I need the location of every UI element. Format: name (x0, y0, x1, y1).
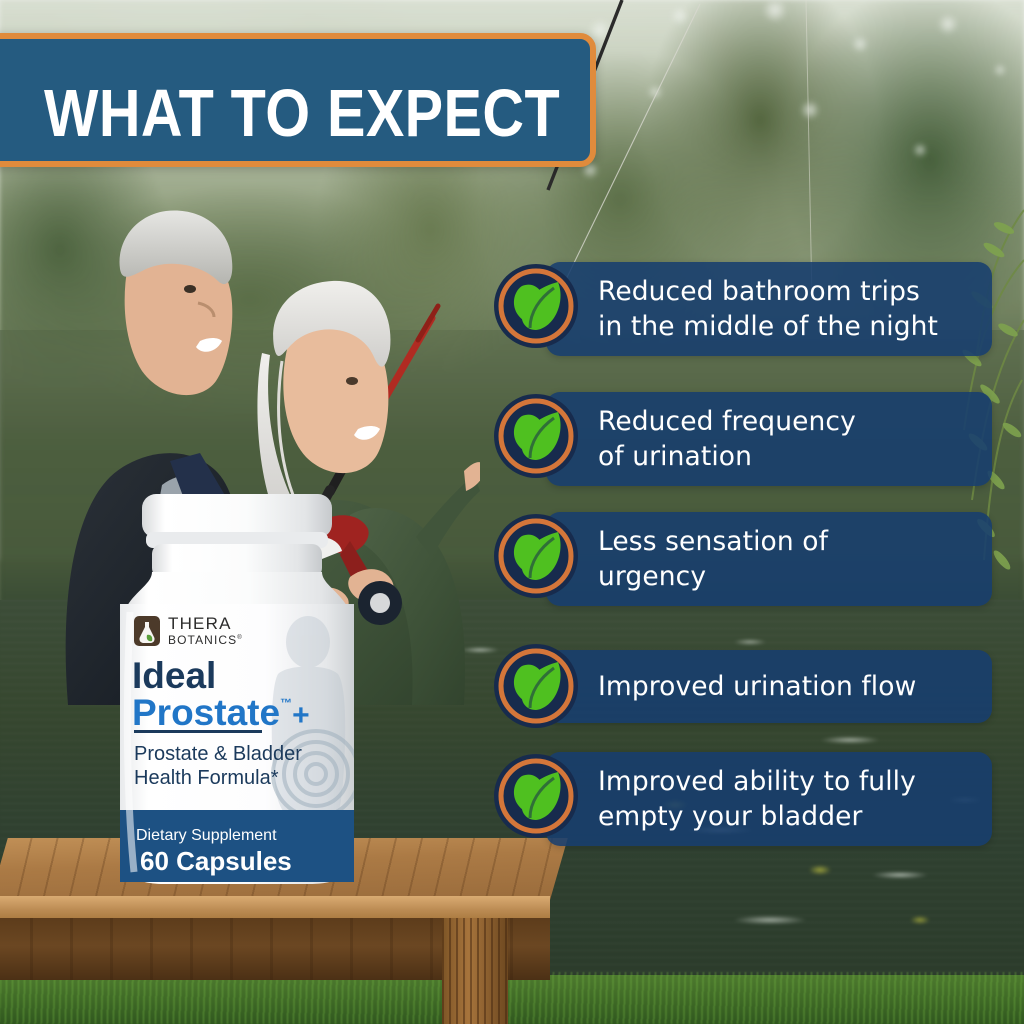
leaf-icon (492, 752, 580, 840)
benefit-line2: urgency (598, 561, 706, 592)
benefit-pill: Reduced bathroom trips in the middle of … (546, 262, 992, 356)
benefit-line1: Improved ability to fully (598, 766, 916, 797)
benefit-line2: in the middle of the night (598, 311, 938, 342)
promo-graphic: THERA BOTANICS® Ideal Prostate™+ Prostat… (0, 0, 1024, 1024)
leaf-icon (492, 642, 580, 730)
benefit-line1: Reduced bathroom trips (598, 276, 920, 307)
benefit-line2: empty your bladder (598, 801, 863, 832)
benefit-line1: Improved urination flow (598, 671, 916, 702)
benefit-pill: Improved ability to fully empty your bla… (546, 752, 992, 846)
benefit-text: Less sensation of urgency (546, 512, 992, 606)
benefits-list: Reduced bathroom trips in the middle of … (0, 0, 1024, 1024)
benefit-line2: of urination (598, 441, 752, 472)
benefit-line1: Reduced frequency (598, 406, 856, 437)
leaf-icon (492, 262, 580, 350)
benefit-pill: Improved urination flow (546, 650, 992, 723)
benefit-text: Improved ability to fully empty your bla… (546, 752, 992, 846)
benefit-line1: Less sensation of (598, 526, 828, 557)
benefit-pill: Less sensation of urgency (546, 512, 992, 606)
benefit-pill: Reduced frequency of urination (546, 392, 992, 486)
benefit-text: Improved urination flow (546, 650, 992, 723)
leaf-icon (492, 392, 580, 480)
leaf-icon (492, 512, 580, 600)
benefit-text: Reduced bathroom trips in the middle of … (546, 262, 992, 356)
benefit-text: Reduced frequency of urination (546, 392, 992, 486)
